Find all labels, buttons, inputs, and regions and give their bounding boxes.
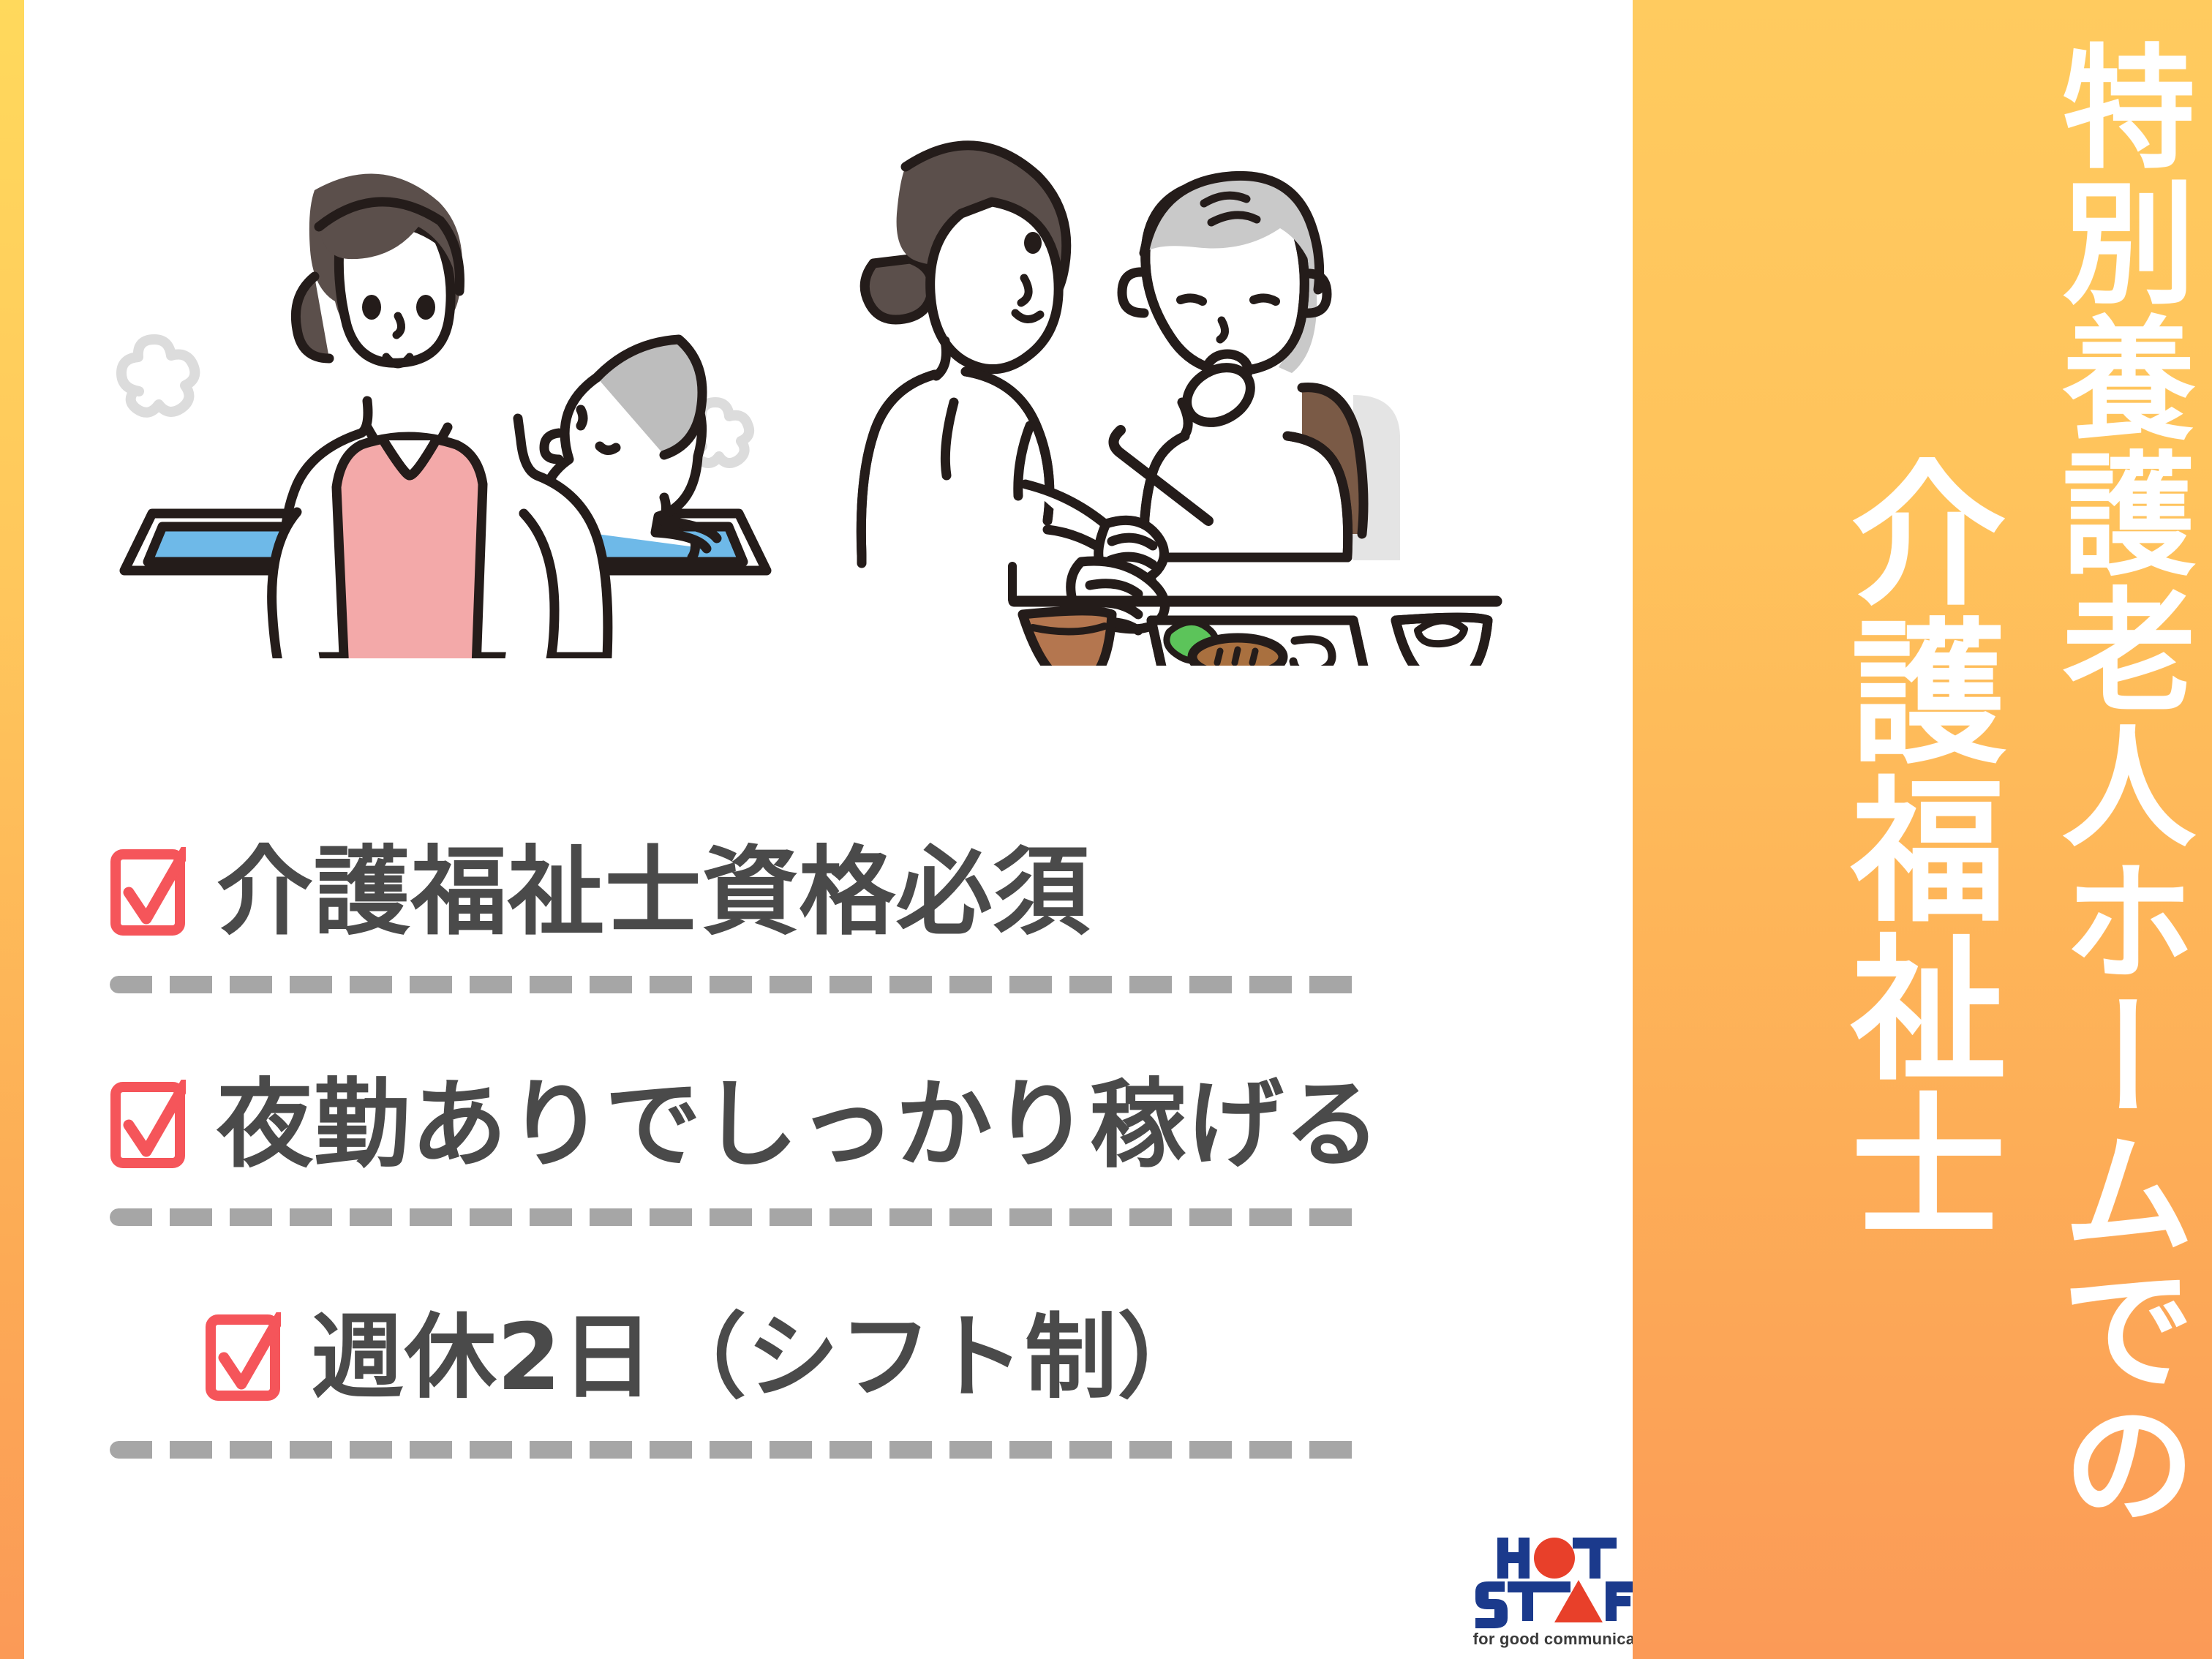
steam-puff-left	[121, 339, 195, 413]
checklist-item-label: 介護福祉士資格必須	[217, 844, 1090, 941]
illustration-group	[88, 80, 1595, 768]
poster-root: 介護福祉士資格必須 夜勤ありでしっかり稼げる 週休2日（シフト制）	[0, 0, 2212, 1659]
vertical-title-line-1: 特別養護老人ホームでの	[2051, 38, 2184, 1532]
checklist-item-label: 週休2日（シフト制）	[312, 1312, 1210, 1404]
meal-assistance-illustration	[849, 80, 1507, 666]
vertical-title-line-2: 介護福祉士	[1837, 454, 1993, 1244]
soup-bowl	[1023, 611, 1112, 666]
checklist-item-1: 介護福祉士資格必須	[110, 819, 1500, 966]
checklist-divider-1	[110, 976, 1368, 993]
checklist-item-label: 夜勤ありでしっかり稼げる	[217, 1077, 1381, 1173]
checkbox-checked-icon	[110, 847, 186, 938]
rice-bowl	[1396, 617, 1488, 666]
meal-plate	[1151, 620, 1369, 666]
person-head-icon	[1534, 1538, 1575, 1579]
left-accent-bar	[0, 0, 24, 1659]
checklist-spacer	[110, 1012, 1500, 1052]
right-title-panel: 特別養護老人ホームでの 介護福祉士	[1633, 0, 2212, 1659]
checklist-item-3: 週休2日（シフト制）	[110, 1284, 1500, 1431]
bathing-assistance-illustration	[95, 102, 797, 658]
checklist-divider-3	[110, 1441, 1368, 1459]
checkbox-checked-icon	[205, 1312, 281, 1403]
caregiver-bathing	[272, 173, 608, 658]
checkbox-checked-icon	[110, 1080, 186, 1170]
checklist-spacer	[110, 1245, 1500, 1284]
checklist-divider-2	[110, 1208, 1368, 1226]
checklist: 介護福祉士資格必須 夜勤ありでしっかり稼げる 週休2日（シフト制）	[110, 819, 1500, 1478]
checklist-item-2: 夜勤ありでしっかり稼げる	[110, 1052, 1500, 1198]
